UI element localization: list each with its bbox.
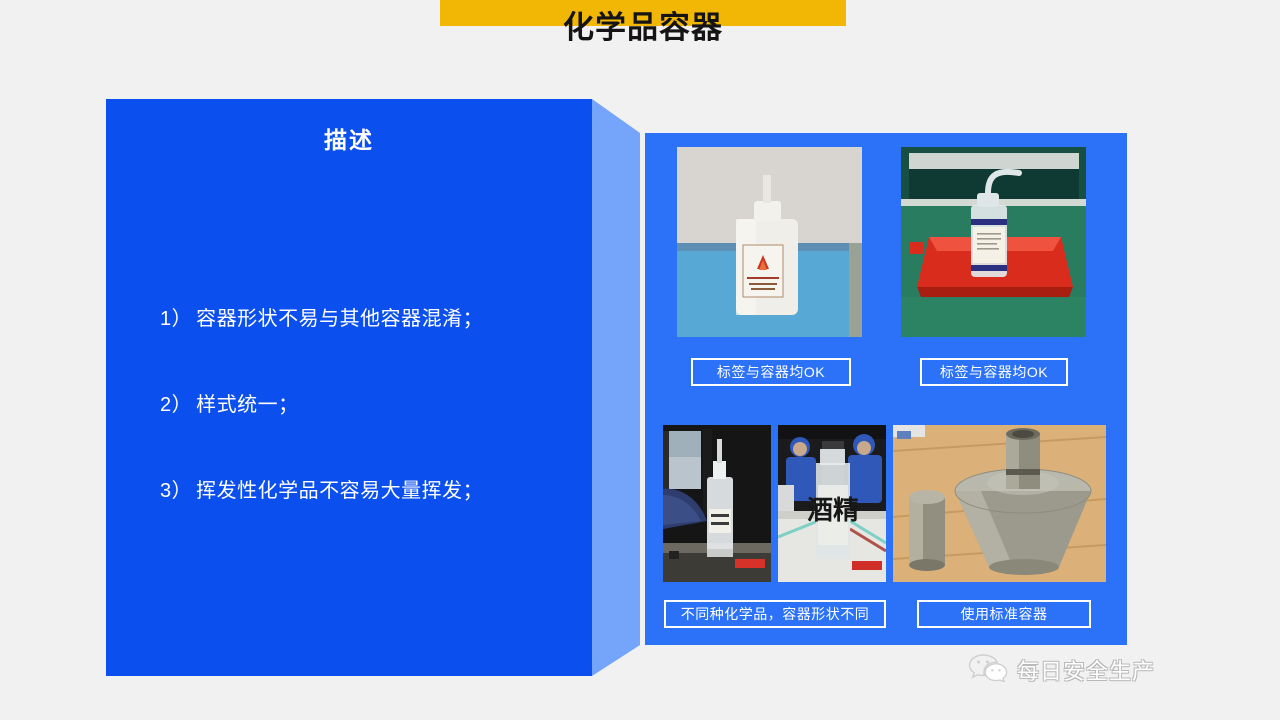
caption-bottom-right: 使用标准容器	[917, 600, 1091, 628]
photo-gloved-hand-alcohol-bottle	[663, 425, 771, 582]
photo-standard-metal-container	[893, 425, 1106, 582]
description-item-1: 1）容器形状不易与其他容器混淆；	[160, 305, 580, 333]
description-item-1-text: 容器形状不易与其他容器混淆；	[196, 308, 483, 330]
photo-wash-bottle-in-red-tray	[901, 147, 1086, 337]
description-heading: 描述	[106, 121, 592, 155]
photo-alcohol-bottle-workshop: 酒精	[778, 425, 886, 582]
description-item-1-number: 1）	[160, 308, 192, 330]
svg-text:酒精: 酒精	[807, 496, 859, 526]
description-item-2-number: 2）	[160, 394, 192, 416]
watermark: 每日安全生产	[968, 652, 1155, 687]
page-title: 化学品容器	[440, 8, 846, 48]
description-item-2: 2）样式统一；	[160, 391, 580, 419]
description-list: 1）容器形状不易与其他容器混淆； 2）样式统一； 3）挥发性化学品不容易大量挥发…	[160, 305, 580, 563]
description-item-3-text: 挥发性化学品不容易大量挥发；	[196, 480, 483, 502]
watermark-text: 每日安全生产	[1017, 654, 1155, 686]
description-panel: 描述 1）容器形状不易与其他容器混淆； 2）样式统一； 3）挥发性化学品不容易大…	[106, 99, 592, 676]
wechat-icon	[968, 652, 1008, 687]
caption-top-left: 标签与容器均OK	[691, 358, 851, 386]
description-item-3-number: 3）	[160, 480, 192, 502]
photo-panel: 标签与容器均OK 标签与容器均OK	[645, 133, 1127, 645]
caption-top-right: 标签与容器均OK	[920, 358, 1068, 386]
photo-white-squeeze-bottle	[677, 147, 862, 337]
description-arrow-wedge	[592, 99, 640, 676]
caption-bottom-left: 不同种化学品，容器形状不同	[664, 600, 886, 628]
description-item-3: 3）挥发性化学品不容易大量挥发；	[160, 477, 580, 505]
description-item-2-text: 样式统一；	[196, 394, 299, 416]
